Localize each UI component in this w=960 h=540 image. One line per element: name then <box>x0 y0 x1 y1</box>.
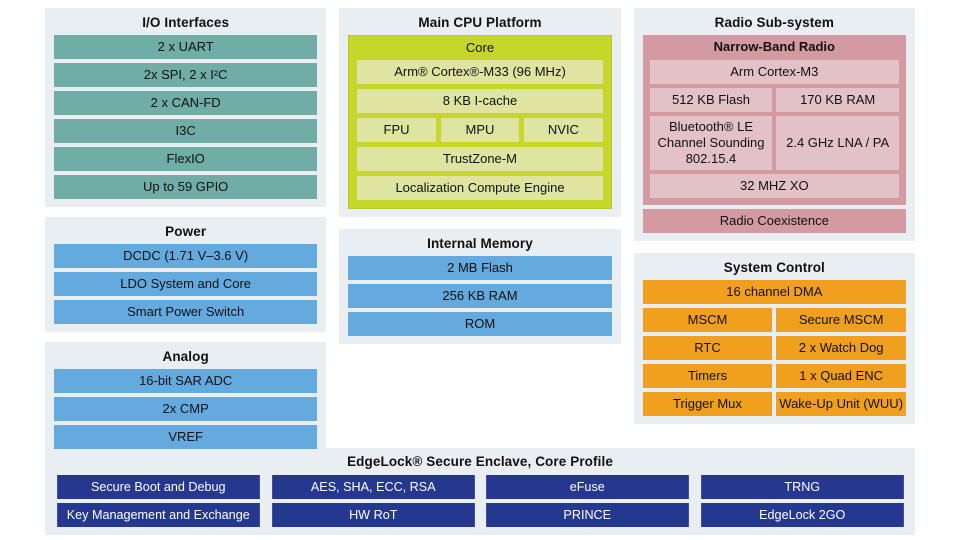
panel-edgelock-secure-enclave: EdgeLock® Secure Enclave, Core Profile S… <box>45 448 915 535</box>
block-localization-compute-engine[interactable]: Localization Compute Engine <box>357 176 602 200</box>
block-cmp[interactable]: 2x CMP <box>54 397 317 421</box>
radio-protocol-row: Bluetooth® LE Channel Sounding 802.15.4 … <box>650 116 899 170</box>
block-trng[interactable]: TRNG <box>701 475 903 499</box>
spacer-power-analog <box>45 332 326 342</box>
narrow-band-radio-box: Narrow-Band Radio Arm Cortex-M3 512 KB F… <box>643 35 906 205</box>
block-dcdc[interactable]: DCDC (1.71 V–3.6 V) <box>54 244 317 268</box>
edgelock-row-1: Secure Boot and Debug AES, SHA, ECC, RSA… <box>54 475 906 499</box>
block-watch-dog[interactable]: 2 x Watch Dog <box>776 336 906 360</box>
block-diagram: I/O Interfaces 2 x UART 2x SPI, 2 x I²C … <box>0 0 960 540</box>
analog-blocks: 16-bit SAR ADC 2x CMP VREF <box>54 369 317 449</box>
power-blocks: DCDC (1.71 V–3.6 V) LDO System and Core … <box>54 244 317 324</box>
panel-io-interfaces: I/O Interfaces 2 x UART 2x SPI, 2 x I²C … <box>45 8 326 207</box>
radio-memory-row: 512 KB Flash 170 KB RAM <box>650 88 899 112</box>
core-blocks: Arm® Cortex®-M33 (96 MHz) 8 KB I-cache F… <box>357 60 602 200</box>
block-radio-ram[interactable]: 170 KB RAM <box>776 88 899 112</box>
block-wake-up-unit[interactable]: Wake-Up Unit (WUU) <box>776 392 906 416</box>
right-column: Radio Sub-system Narrow-Band Radio Arm C… <box>634 8 915 436</box>
edgelock-rows: Secure Boot and Debug AES, SHA, ECC, RSA… <box>54 475 906 527</box>
block-secure-mscm[interactable]: Secure MSCM <box>776 308 906 332</box>
block-smart-power-switch[interactable]: Smart Power Switch <box>54 300 317 324</box>
block-cortex-m3[interactable]: Arm Cortex-M3 <box>650 60 899 84</box>
block-cortex-m33[interactable]: Arm® Cortex®-M33 (96 MHz) <box>357 60 602 84</box>
system-control-row-rtc: RTC 2 x Watch Dog <box>643 336 906 360</box>
block-gpio[interactable]: Up to 59 GPIO <box>54 175 317 199</box>
narrow-band-radio-title: Narrow-Band Radio <box>650 35 899 60</box>
block-lna-pa[interactable]: 2.4 GHz LNA / PA <box>776 116 899 170</box>
block-edgelock-2go[interactable]: EdgeLock 2GO <box>701 503 903 527</box>
left-column: I/O Interfaces 2 x UART 2x SPI, 2 x I²C … <box>45 8 326 436</box>
block-hw-rot[interactable]: HW RoT <box>272 503 474 527</box>
radio-subsystem-title: Radio Sub-system <box>643 13 906 35</box>
panel-main-cpu-platform: Main CPU Platform Core Arm® Cortex®-M33 … <box>339 8 620 217</box>
block-timers[interactable]: Timers <box>643 364 773 388</box>
block-rom[interactable]: ROM <box>348 312 611 336</box>
block-uart[interactable]: 2 x UART <box>54 35 317 59</box>
block-trustzone-m[interactable]: TrustZone-M <box>357 147 602 171</box>
core-triple-row: FPU MPU NVIC <box>357 118 602 142</box>
block-prince[interactable]: PRINCE <box>486 503 688 527</box>
block-can-fd[interactable]: 2 x CAN-FD <box>54 91 317 115</box>
block-mscm[interactable]: MSCM <box>643 308 773 332</box>
block-quad-enc[interactable]: 1 x Quad ENC <box>776 364 906 388</box>
block-rtc[interactable]: RTC <box>643 336 773 360</box>
system-control-row-trigger: Trigger Mux Wake-Up Unit (WUU) <box>643 392 906 416</box>
block-secure-boot-and-debug[interactable]: Secure Boot and Debug <box>57 475 259 499</box>
internal-memory-blocks: 2 MB Flash 256 KB RAM ROM <box>348 256 611 336</box>
analog-title: Analog <box>54 347 317 369</box>
spacer-radio-system-control <box>634 241 915 253</box>
power-title: Power <box>54 222 317 244</box>
block-nvic[interactable]: NVIC <box>524 118 602 142</box>
internal-memory-title: Internal Memory <box>348 234 611 256</box>
block-flash[interactable]: 2 MB Flash <box>348 256 611 280</box>
block-i-cache[interactable]: 8 KB I-cache <box>357 89 602 113</box>
block-bluetooth-le[interactable]: Bluetooth® LE Channel Sounding 802.15.4 <box>650 116 773 170</box>
core-box: Core Arm® Cortex®-M33 (96 MHz) 8 KB I-ca… <box>348 35 611 209</box>
panel-radio-subsystem: Radio Sub-system Narrow-Band Radio Arm C… <box>634 8 915 241</box>
block-dma[interactable]: 16 channel DMA <box>643 280 906 304</box>
panel-internal-memory: Internal Memory 2 MB Flash 256 KB RAM RO… <box>339 229 620 344</box>
system-control-blocks: 16 channel DMA MSCM Secure MSCM RTC 2 x … <box>643 280 906 416</box>
block-key-management-and-exchange[interactable]: Key Management and Exchange <box>57 503 259 527</box>
block-xo[interactable]: 32 MHZ XO <box>650 174 899 198</box>
io-interfaces-title: I/O Interfaces <box>54 13 317 35</box>
spacer-io-power <box>45 207 326 217</box>
block-efuse[interactable]: eFuse <box>486 475 688 499</box>
block-radio-flash[interactable]: 512 KB Flash <box>650 88 773 112</box>
panel-analog: Analog 16-bit SAR ADC 2x CMP VREF <box>45 342 326 457</box>
block-sar-adc[interactable]: 16-bit SAR ADC <box>54 369 317 393</box>
core-title: Core <box>357 36 602 60</box>
io-interfaces-blocks: 2 x UART 2x SPI, 2 x I²C 2 x CAN-FD I3C … <box>54 35 317 199</box>
block-flexio[interactable]: FlexIO <box>54 147 317 171</box>
block-aes-sha-ecc-rsa[interactable]: AES, SHA, ECC, RSA <box>272 475 474 499</box>
block-i3c[interactable]: I3C <box>54 119 317 143</box>
panel-power: Power DCDC (1.71 V–3.6 V) LDO System and… <box>45 217 326 332</box>
diagram-columns: I/O Interfaces 2 x UART 2x SPI, 2 x I²C … <box>45 8 915 436</box>
block-vref[interactable]: VREF <box>54 425 317 449</box>
spacer-cpu-memory <box>339 217 620 229</box>
system-control-title: System Control <box>643 258 906 280</box>
main-cpu-platform-title: Main CPU Platform <box>348 13 611 35</box>
middle-column: Main CPU Platform Core Arm® Cortex®-M33 … <box>339 8 620 436</box>
panel-system-control: System Control 16 channel DMA MSCM Secur… <box>634 253 915 424</box>
narrow-band-radio-blocks: Arm Cortex-M3 512 KB Flash 170 KB RAM Bl… <box>650 60 899 198</box>
block-trigger-mux[interactable]: Trigger Mux <box>643 392 773 416</box>
system-control-row-timers: Timers 1 x Quad ENC <box>643 364 906 388</box>
block-fpu[interactable]: FPU <box>357 118 435 142</box>
edgelock-row-2: Key Management and Exchange HW RoT PRINC… <box>54 503 906 527</box>
block-mpu[interactable]: MPU <box>441 118 519 142</box>
system-control-row-mscm: MSCM Secure MSCM <box>643 308 906 332</box>
block-ldo[interactable]: LDO System and Core <box>54 272 317 296</box>
block-radio-coexistence[interactable]: Radio Coexistence <box>643 209 906 233</box>
block-ram[interactable]: 256 KB RAM <box>348 284 611 308</box>
block-spi-i2c[interactable]: 2x SPI, 2 x I²C <box>54 63 317 87</box>
